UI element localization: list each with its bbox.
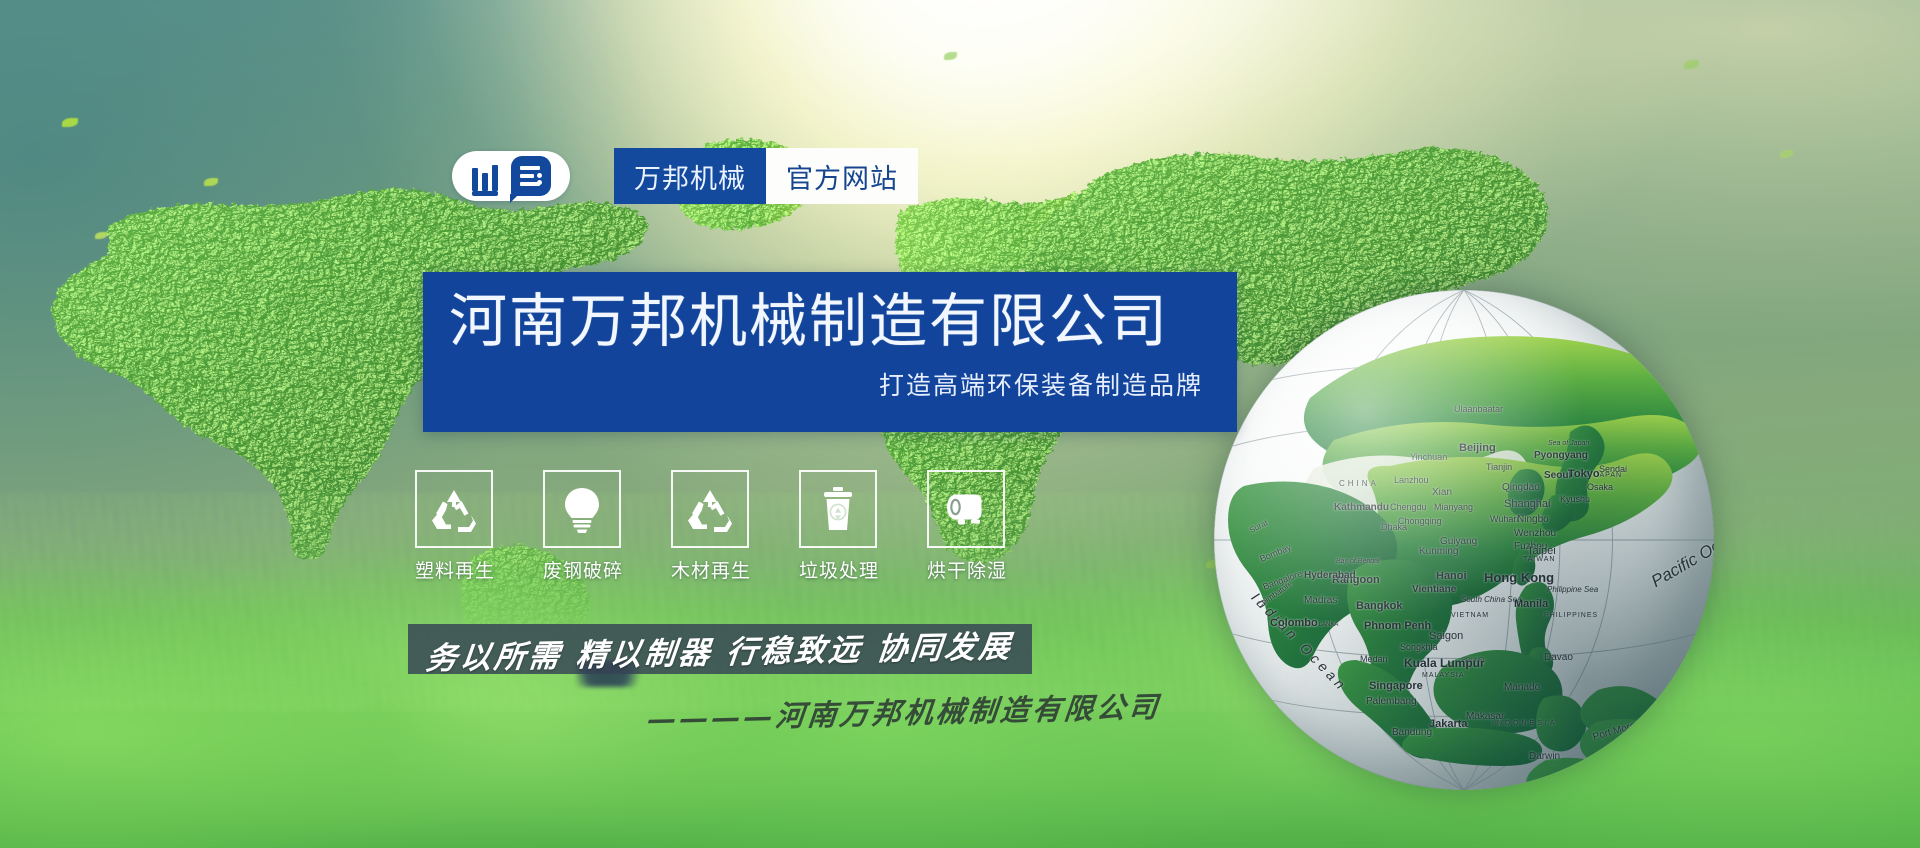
feature-icon-box[interactable] xyxy=(799,470,877,548)
feature-label: 塑料再生 xyxy=(415,556,495,583)
tab-company-name[interactable]: 万邦机械 xyxy=(614,148,766,204)
feature-icon-box[interactable] xyxy=(415,470,493,548)
feature-label: 垃圾处理 xyxy=(799,556,879,583)
hero-title-box: 河南万邦机械制造有限公司 打造高端环保装备制造品牌 xyxy=(423,272,1237,432)
slogan-bar: 务以所需 精以制器 行稳致远 协同发展 xyxy=(408,624,1032,674)
recycle-icon xyxy=(430,485,478,533)
globe-sphere: Pacific Ocean Indian Ocean South China S… xyxy=(1214,290,1714,790)
lightbulb-icon xyxy=(558,485,606,533)
feature-icon-box[interactable] xyxy=(543,470,621,548)
page-subtitle: 打造高端环保装备制造品牌 xyxy=(449,366,1203,402)
globe-graphic: Pacific Ocean Indian Ocean South China S… xyxy=(1214,290,1714,790)
tab-official-site[interactable]: 官方网站 xyxy=(766,148,918,204)
trash-bin-icon xyxy=(814,485,862,533)
feature-item-scrap-steel-crushing[interactable]: 废钢破碎 xyxy=(543,470,623,583)
banner-stage: Pacific Ocean Indian Ocean South China S… xyxy=(0,0,1920,848)
logo-letter-b-bubble-icon xyxy=(511,156,551,196)
feature-label: 木材再生 xyxy=(671,556,751,583)
page-title: 河南万邦机械制造有限公司 xyxy=(449,286,1203,358)
header-tabs: 万邦机械 官方网站 xyxy=(614,148,918,204)
logo-letter-w-icon xyxy=(472,161,502,191)
feature-item-drying-dehumidification[interactable]: 烘干除湿 xyxy=(927,470,1007,583)
wb-logo-icon[interactable] xyxy=(452,151,570,201)
feature-icon-box[interactable] xyxy=(671,470,749,548)
recycle-icon xyxy=(686,485,734,533)
site-header: 万邦机械 官方网站 xyxy=(452,148,918,204)
feature-label: 烘干除湿 xyxy=(927,556,1007,583)
dryer-blower-icon xyxy=(942,485,990,533)
feature-item-wood-recycling[interactable]: 木材再生 xyxy=(671,470,751,583)
feature-icon-box[interactable] xyxy=(927,470,1005,548)
feature-icon-row: 塑料再生 废钢破碎 xyxy=(415,470,1007,583)
feature-item-waste-treatment[interactable]: 垃圾处理 xyxy=(799,470,879,583)
slogan-text: 务以所需 精以制器 行稳致远 协同发展 xyxy=(424,620,1015,677)
feature-label: 废钢破碎 xyxy=(543,556,623,583)
feature-item-plastic-recycling[interactable]: 塑料再生 xyxy=(415,470,495,583)
